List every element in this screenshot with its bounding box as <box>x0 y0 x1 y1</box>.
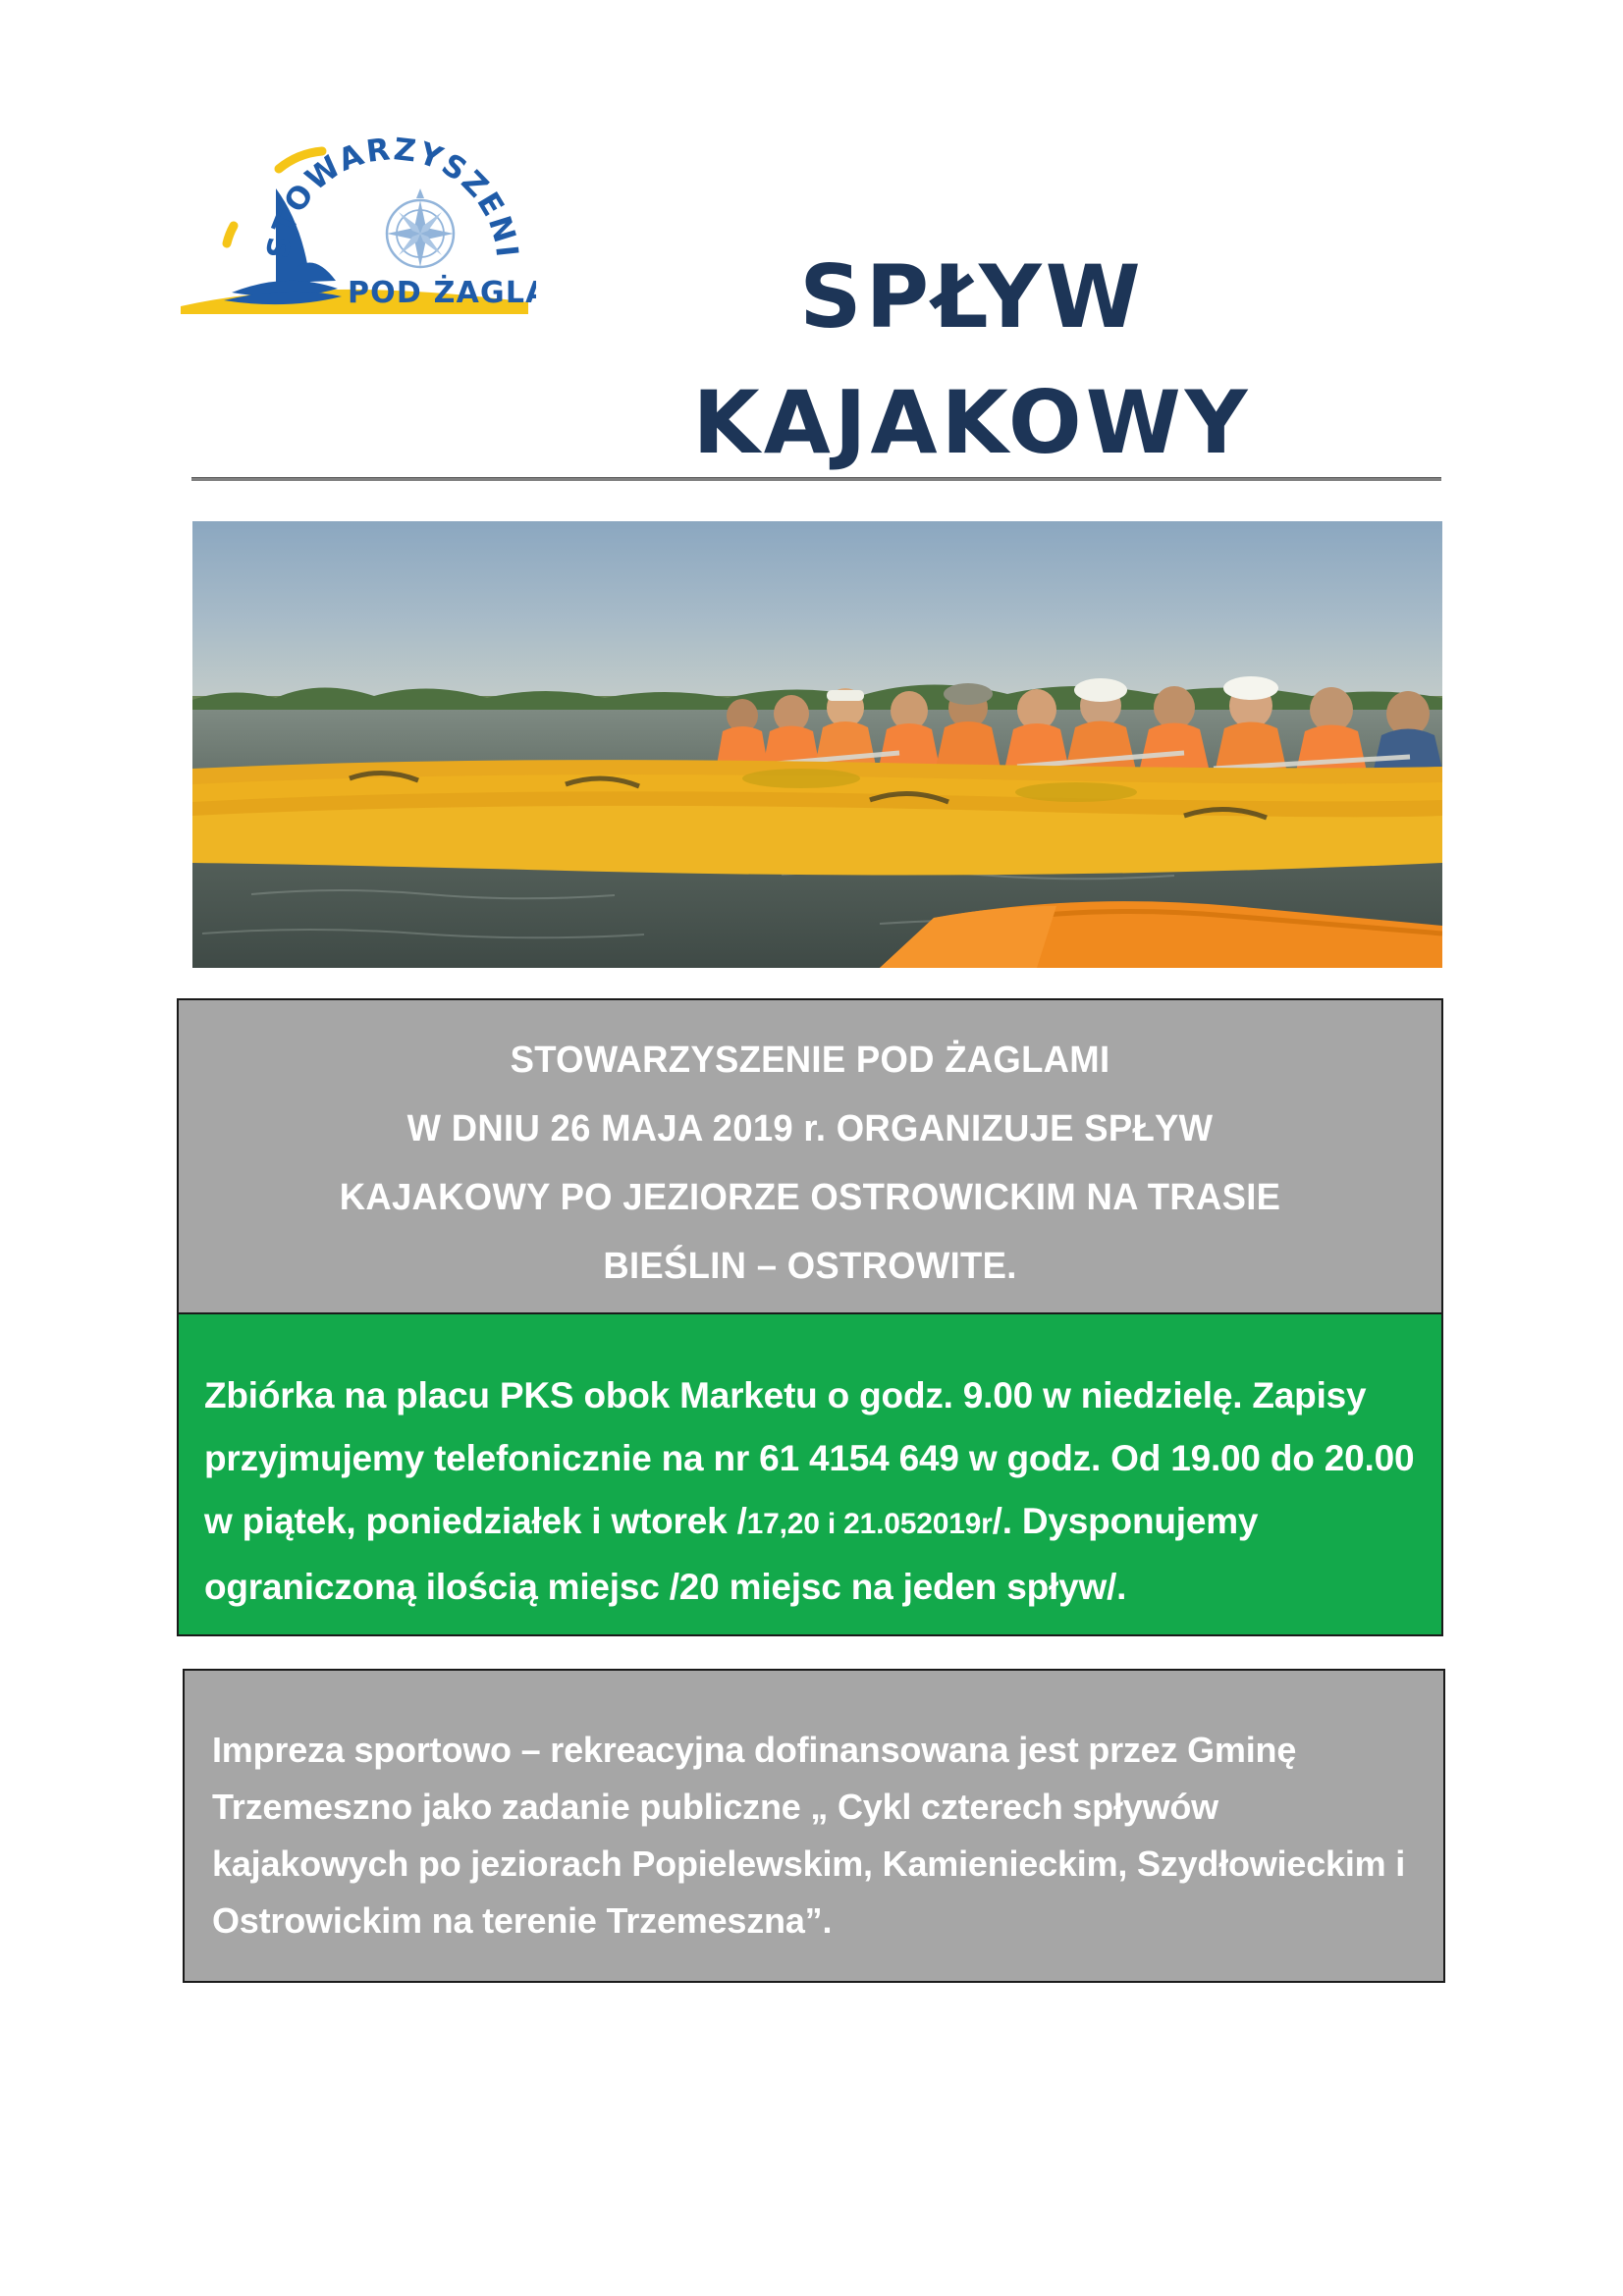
funding-notice-box: Impreza sportowo – rekreacyjna dofinanso… <box>183 1669 1445 1983</box>
announcement-line-3: KAJAKOWY PO JEZIORZE OSTROWICKIM NA TRAS… <box>236 1163 1383 1232</box>
page-title: SPŁYW KAJAKOWY <box>530 235 1414 486</box>
announcement-line-1: STOWARZYSZENIE POD ŻAGLAMI <box>236 1026 1383 1095</box>
registration-details-box: Zbiórka na placu PKS obok Marketu o godz… <box>177 1312 1443 1636</box>
announcement-line-2: W DNIU 26 MAJA 2019 r. ORGANIZUJE SPŁYW <box>236 1095 1383 1163</box>
registration-details-text: Zbiórka na placu PKS obok Marketu o godz… <box>204 1364 1416 1619</box>
title-line-2: KAJAKOWY <box>530 360 1414 486</box>
header-divider <box>191 477 1441 481</box>
announcement-line-4: BIEŚLIN – OSTROWITE. <box>236 1232 1383 1301</box>
kayaking-group-photo <box>192 521 1442 968</box>
event-announcement-box: STOWARZYSZENIE POD ŻAGLAMI W DNIU 26 MAJ… <box>177 998 1443 1312</box>
stowarzyszenie-pod-zaglami-logo: STOWARZYSZENIE POD ŻAGLAMI <box>173 128 536 314</box>
funding-notice-text: Impreza sportowo – rekreacyjna dofinanso… <box>212 1722 1416 1949</box>
logo-base-text: POD ŻAGLAMI <box>348 275 536 310</box>
title-line-1: SPŁYW <box>530 235 1414 360</box>
poster-header: STOWARZYSZENIE POD ŻAGLAMI SPŁYW KAJAKOW… <box>0 0 1623 461</box>
registration-dates-small: 17,20 i 21.052019r <box>747 1508 993 1540</box>
